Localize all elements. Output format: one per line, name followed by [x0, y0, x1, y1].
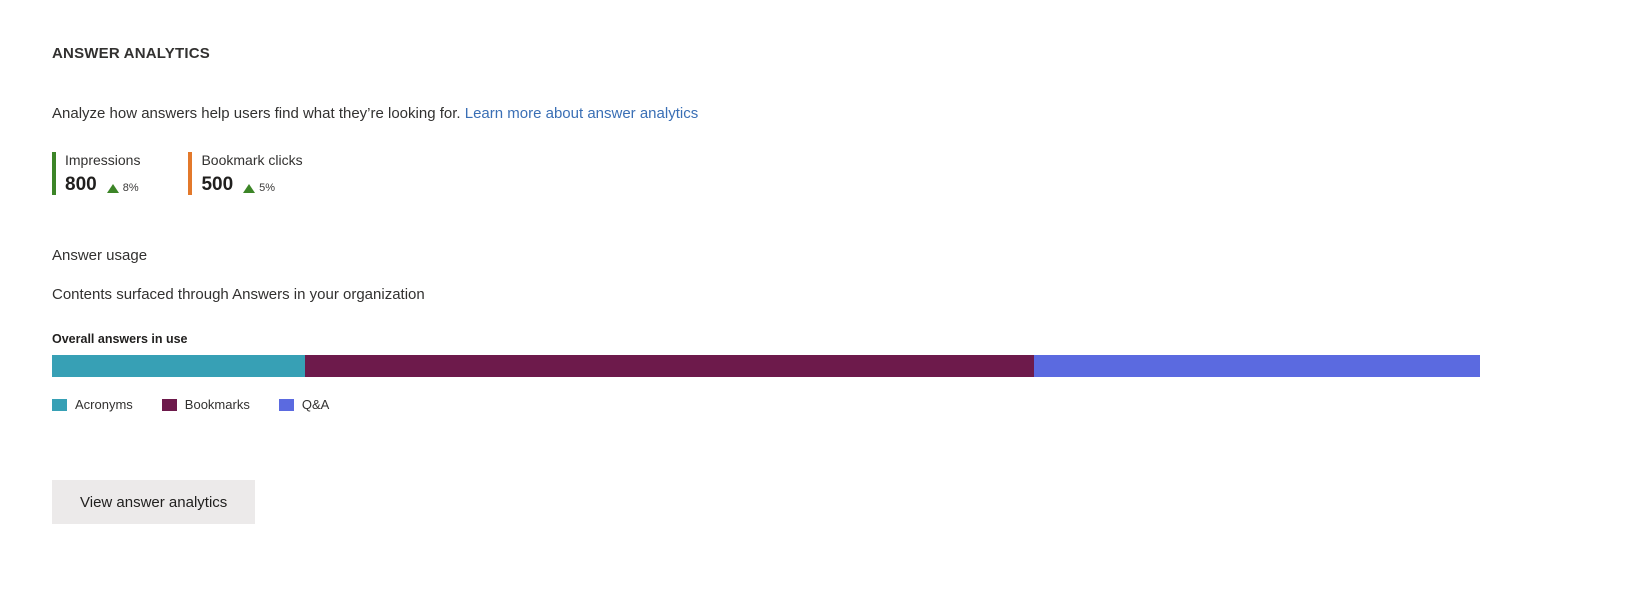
legend-label-acronyms: Acronyms — [75, 398, 133, 412]
trend-up-icon — [243, 184, 255, 193]
answer-analytics-panel: ANSWER ANALYTICS Analyze how answers hel… — [52, 0, 1592, 524]
legend-label-bookmarks: Bookmarks — [185, 398, 250, 412]
kpi-accent-bar-bookmark-clicks — [188, 152, 192, 195]
kpi-accent-bar-impressions — [52, 152, 56, 195]
kpi-value-impressions: 800 — [65, 175, 97, 195]
intro-text: Analyze how answers help users find what… — [52, 105, 465, 122]
kpi-label-bookmark-clicks: Bookmark clicks — [201, 152, 302, 169]
legend-item-acronyms[interactable]: Acronyms — [52, 398, 133, 412]
stacked-bar-segment-acronyms[interactable] — [52, 355, 305, 377]
view-answer-analytics-button[interactable]: View answer analytics — [52, 480, 255, 524]
learn-more-link[interactable]: Learn more about answer analytics — [465, 105, 698, 122]
stacked-bar-segment-bookmarks[interactable] — [305, 355, 1035, 377]
legend-label-qa: Q&A — [302, 398, 329, 412]
stacked-bar-segment-qa[interactable] — [1034, 355, 1480, 377]
actions-row: View answer analytics — [52, 480, 1592, 524]
kpi-delta-bookmark-clicks: 5% — [243, 183, 275, 194]
kpi-row: Impressions 800 8% Bookmark clicks 500 — [52, 152, 1592, 195]
kpi-card-impressions: Impressions 800 8% — [52, 152, 140, 195]
kpi-body-impressions: Impressions 800 8% — [65, 152, 140, 195]
kpi-value-row-bookmark-clicks: 500 5% — [201, 175, 302, 195]
kpi-value-bookmark-clicks: 500 — [201, 175, 233, 195]
kpi-delta-text-bookmark-clicks: 5% — [259, 183, 275, 194]
intro-paragraph: Analyze how answers help users find what… — [52, 104, 1592, 124]
legend-item-bookmarks[interactable]: Bookmarks — [162, 398, 250, 412]
answer-usage-description: Contents surfaced through Answers in you… — [52, 286, 1592, 303]
kpi-card-bookmark-clicks: Bookmark clicks 500 5% — [188, 152, 302, 195]
chart-legend: Acronyms Bookmarks Q&A — [52, 398, 1592, 412]
kpi-body-bookmark-clicks: Bookmark clicks 500 5% — [201, 152, 302, 195]
stacked-bar-chart — [52, 355, 1480, 377]
legend-swatch-bookmarks — [162, 399, 177, 411]
legend-item-qa[interactable]: Q&A — [279, 398, 329, 412]
kpi-delta-impressions: 8% — [107, 183, 139, 194]
answer-usage-heading: Answer usage — [52, 247, 1592, 264]
kpi-label-impressions: Impressions — [65, 152, 140, 169]
legend-swatch-qa — [279, 399, 294, 411]
legend-swatch-acronyms — [52, 399, 67, 411]
trend-up-icon — [107, 184, 119, 193]
page-title: ANSWER ANALYTICS — [52, 45, 1592, 62]
kpi-value-row-impressions: 800 8% — [65, 175, 140, 195]
chart-title: Overall answers in use — [52, 332, 1592, 346]
kpi-delta-text-impressions: 8% — [123, 183, 139, 194]
